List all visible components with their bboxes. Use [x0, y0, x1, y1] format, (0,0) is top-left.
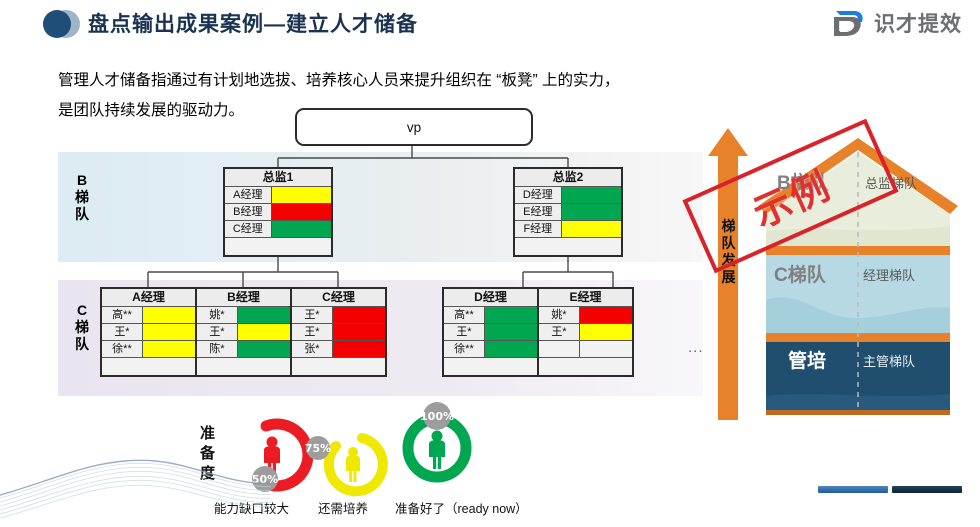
node-row[interactable]: 徐** [102, 341, 195, 358]
node-row[interactable]: 陈* [197, 341, 290, 358]
node-vp[interactable]: vp [295, 108, 533, 146]
readiness-cell-empty [238, 358, 290, 375]
node-vp-label: vp [407, 120, 421, 135]
readiness-cell-empty [485, 358, 537, 375]
member-name-empty [225, 238, 272, 255]
footer-bar-dark [892, 486, 962, 493]
node-manager-c[interactable]: C经理 王* 王* 张* [290, 287, 387, 377]
gauge-100: 100% [398, 408, 476, 486]
readiness-cell [272, 221, 331, 237]
member-name-empty [292, 358, 333, 375]
node-row-empty [197, 358, 290, 375]
node-row[interactable]: 王* [292, 307, 385, 324]
member-name-empty [539, 358, 580, 375]
node-row[interactable]: 张* [292, 341, 385, 358]
readiness-cell-empty [580, 358, 632, 375]
readiness-cell [143, 324, 195, 340]
node-row-empty [225, 238, 331, 255]
node-director-2[interactable]: 总监2 D经理 E经理 F经理 [513, 167, 623, 257]
readiness-cell-empty [272, 238, 331, 255]
member-name-empty [539, 341, 580, 357]
member-name-empty [444, 358, 485, 375]
node-row-empty [292, 358, 385, 375]
node-row[interactable]: C经理 [225, 221, 331, 238]
node-row[interactable]: 姚* [197, 307, 290, 324]
brand-logo: D 识才提效 [830, 7, 962, 39]
node-title: D经理 [444, 289, 537, 307]
brand-d-icon: D [830, 8, 868, 38]
node-title: C经理 [292, 289, 385, 307]
house-level-c-title: C梯队 [774, 260, 826, 287]
node-row[interactable]: 王* [444, 324, 537, 341]
readiness-cell [143, 307, 195, 323]
gauge-75: 75% [316, 426, 394, 504]
slide-canvas: 盘点输出成果案例—建立人才储备 D 识才提效 管理人才储备指通过有计划地选拔、培… [0, 0, 980, 527]
member-name: 陈* [197, 341, 238, 357]
readiness-cell [562, 187, 621, 203]
legend-caption-1: 还需培养 [318, 498, 368, 517]
node-manager-e[interactable]: E经理 姚* 王* [537, 287, 634, 377]
node-row[interactable]: 姚* [539, 307, 632, 324]
brand-name: 识才提效 [874, 8, 962, 38]
member-name: 徐** [444, 341, 485, 357]
org-chart: B梯队 C梯队 [0, 100, 720, 400]
readiness-cell [562, 221, 621, 237]
readiness-cell [485, 341, 537, 357]
member-name-empty [515, 238, 562, 255]
member-name: 王* [292, 307, 333, 323]
member-name: D经理 [515, 187, 562, 203]
readiness-cell [143, 341, 195, 357]
node-row-empty [539, 341, 632, 358]
member-name-empty [102, 358, 143, 375]
node-row-empty [444, 358, 537, 375]
tier-c-label: C梯队 [70, 302, 94, 353]
node-row-empty [515, 238, 621, 255]
readiness-cell [333, 324, 385, 340]
member-name: 王* [292, 324, 333, 340]
node-title: E经理 [539, 289, 632, 307]
readiness-cell [333, 307, 385, 323]
house-level-g-title: 管培 [788, 346, 826, 373]
member-name: E经理 [515, 204, 562, 220]
node-row[interactable]: F经理 [515, 221, 621, 238]
node-row[interactable]: 王* [197, 324, 290, 341]
node-title: A经理 [102, 289, 195, 307]
node-title: B经理 [197, 289, 290, 307]
readiness-cell-empty [562, 238, 621, 255]
member-name: F经理 [515, 221, 562, 237]
member-name: 王* [102, 324, 143, 340]
gauge-75-arc [316, 426, 394, 504]
member-name: 高** [102, 307, 143, 323]
member-name: 王* [444, 324, 485, 340]
node-row[interactable]: 王* [292, 324, 385, 341]
node-row[interactable]: 王* [102, 324, 195, 341]
readiness-cell [333, 341, 385, 357]
gauge-75-badge: 75% [306, 436, 330, 460]
node-row[interactable]: 徐** [444, 341, 537, 358]
node-row[interactable]: 王* [539, 324, 632, 341]
member-name: 王* [197, 324, 238, 340]
readiness-cell [238, 307, 290, 323]
readiness-cell [580, 307, 632, 323]
footer-bar-light [818, 486, 888, 493]
member-name: B经理 [225, 204, 272, 220]
svg-text:D: D [838, 20, 849, 35]
member-name: 姚* [197, 307, 238, 323]
node-row[interactable]: 高** [102, 307, 195, 324]
node-row-empty [539, 358, 632, 375]
tier-b-label: B梯队 [70, 172, 94, 223]
readiness-cell [238, 324, 290, 340]
gauge-100-badge: 100% [423, 402, 451, 430]
member-name: 徐** [102, 341, 143, 357]
node-row[interactable]: B经理 [225, 204, 331, 221]
member-name: C经理 [225, 221, 272, 237]
decorative-wave [0, 430, 270, 527]
member-name-empty [197, 358, 238, 375]
readiness-cell [272, 187, 331, 203]
house-level-c-subtitle: 经理梯队 [863, 265, 915, 284]
legend-caption-2: 准备好了（ready now） [395, 498, 528, 517]
member-name: 王* [539, 324, 580, 340]
node-manager-b[interactable]: B经理 姚* 王* 陈* [195, 287, 292, 377]
member-name: 张* [292, 341, 333, 357]
node-row[interactable]: D经理 [515, 187, 621, 204]
house-level-g-subtitle: 主管梯队 [863, 351, 915, 370]
member-name: 高** [444, 307, 485, 323]
node-manager-d[interactable]: D经理 高** 王* 徐** [442, 287, 539, 377]
readiness-cell-empty [580, 341, 632, 357]
readiness-cell-empty [143, 358, 195, 375]
node-row-empty [102, 358, 195, 375]
readiness-cell [485, 307, 537, 323]
node-row[interactable]: 高** [444, 307, 537, 324]
member-name: 姚* [539, 307, 580, 323]
intro-line-1: 管理人才储备指通过有计划地选拔、培养核心人员来提升组织在 “板凳” 上的实力， [58, 66, 758, 96]
readiness-cell [562, 204, 621, 220]
circles-logo-icon [40, 6, 84, 42]
node-row[interactable]: E经理 [515, 204, 621, 221]
page-title: 盘点输出成果案例—建立人才储备 [88, 8, 418, 38]
member-name: A经理 [225, 187, 272, 203]
footer-bars [818, 486, 962, 493]
node-director-1[interactable]: 总监1 A经理 B经理 C经理 [223, 167, 333, 257]
readiness-cell [580, 324, 632, 340]
node-title: 总监2 [515, 169, 621, 187]
node-manager-a[interactable]: A经理 高** 王* 徐** [100, 287, 197, 377]
node-title: 总监1 [225, 169, 331, 187]
readiness-cell-empty [333, 358, 385, 375]
readiness-cell [272, 204, 331, 220]
readiness-cell [485, 324, 537, 340]
slide-header: 盘点输出成果案例—建立人才储备 D 识才提效 [0, 0, 980, 48]
readiness-cell [238, 341, 290, 357]
node-row[interactable]: A经理 [225, 187, 331, 204]
ladder-house-diagram: B梯队 总监梯队 C梯队 经理梯队 管培 主管梯队 梯队发展 示例 [700, 128, 968, 420]
